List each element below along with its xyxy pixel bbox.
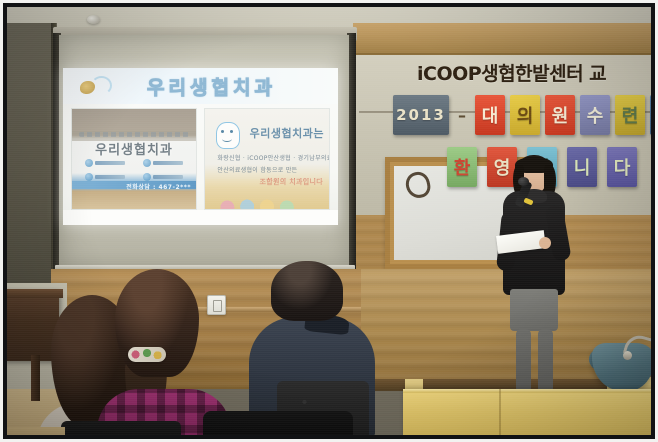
left-wall (7, 23, 57, 283)
coop-wordmark (95, 161, 125, 165)
children-illustration (205, 179, 329, 209)
banner-card-letter: 원 (545, 95, 575, 135)
mascot-line-1: 화랑신협 · iCOOP안산생협 · 경기남부의료생협 (217, 153, 321, 162)
coop-mark-icon (143, 173, 151, 181)
banner-card-letter: 수 (580, 95, 610, 135)
whiteboard-marking (404, 170, 433, 200)
speaker-skirt (510, 289, 558, 331)
slide-photo-clinic-sign: 우리생협치과 (71, 108, 197, 210)
coop-mark-icon (85, 159, 93, 167)
coop-mark-icon (85, 173, 93, 181)
coop-logo-icon (85, 173, 125, 181)
clinic-logo-row (77, 173, 191, 181)
coop-logo-icon (143, 173, 183, 181)
banner-card-letter: 다 (607, 147, 637, 187)
speaker-hand (539, 237, 551, 249)
banner-card-letter: 련 (615, 95, 645, 135)
tooth-mascot-icon (216, 122, 240, 149)
floral-scrunchie (128, 347, 166, 362)
slide-photo-mascot-banner: 우리생협치과는 화랑신협 · iCOOP안산생협 · 경기남부의료생협 안산의료… (204, 108, 330, 210)
coop-mark-icon (143, 159, 151, 167)
coop-logo-icon (143, 159, 183, 167)
coop-wordmark (95, 175, 125, 179)
slide-header: 우리생협치과 (63, 68, 338, 104)
foreground-table-edge (403, 389, 651, 393)
coop-wordmark (153, 161, 183, 165)
tooth-sun-logo-icon (77, 75, 105, 97)
banner-card-year: 2013 (393, 95, 449, 135)
speaker-leg-left (516, 329, 531, 393)
wood-beam (353, 23, 651, 55)
photo-inner-border: iCOOP생협한밭센터 교 2013 – 대 의 원 수 련 회 환 영 합 니… (3, 3, 655, 439)
clinic-phone-text: 전화상담 : 467-2*** (126, 182, 191, 191)
banner-card-letter: 회 (650, 95, 651, 135)
microphone-head (518, 177, 529, 186)
banner-card-letter: 대 (475, 95, 505, 135)
foreground-chair-right (203, 411, 353, 435)
audience-member-3 (253, 261, 375, 435)
speaker-person (491, 155, 577, 399)
photo-scene: iCOOP생협한밭센터 교 2013 – 대 의 원 수 련 회 환 영 합 니… (7, 7, 651, 435)
clinic-logo-row (77, 159, 191, 167)
audience-3-hair (271, 261, 343, 321)
slide-body: 우리생협치과 (63, 104, 338, 210)
banner-card-letter: 의 (510, 95, 540, 135)
clinic-subline (79, 132, 188, 137)
slide-footer (63, 210, 338, 225)
handbag-clasp-icon (623, 351, 632, 360)
banner-letter-row-1: 2013 – 대 의 원 수 련 회 (393, 95, 651, 139)
mascot-line-2: 안산의료생협이 함동으로 만든 (217, 165, 321, 174)
foreground-chair-left (61, 421, 181, 435)
speaker-leg-right (538, 329, 553, 393)
coop-wordmark (153, 175, 183, 179)
projected-slide: 우리생협치과 우리생협치과 (63, 68, 338, 225)
coop-logo-icon (85, 159, 125, 167)
audience-member-2 (97, 269, 227, 435)
foreground-table (403, 389, 651, 435)
banner-card-dash: – (454, 95, 470, 135)
slide-title: 우리생협치과 (105, 73, 318, 100)
table-seam (499, 389, 501, 435)
clinic-sign-text: 우리생협치과 (72, 139, 196, 158)
photo-frame: iCOOP생협한밭센터 교 2013 – 대 의 원 수 련 회 환 영 합 니… (0, 0, 658, 442)
floor-strip (7, 427, 65, 435)
wall-banner-title: iCOOP생협한밭센터 교 (417, 59, 651, 86)
mascot-headline: 우리생협치과는 (250, 125, 324, 141)
ceiling-light-icon (87, 15, 100, 24)
banner-card-letter: 환 (447, 147, 477, 187)
